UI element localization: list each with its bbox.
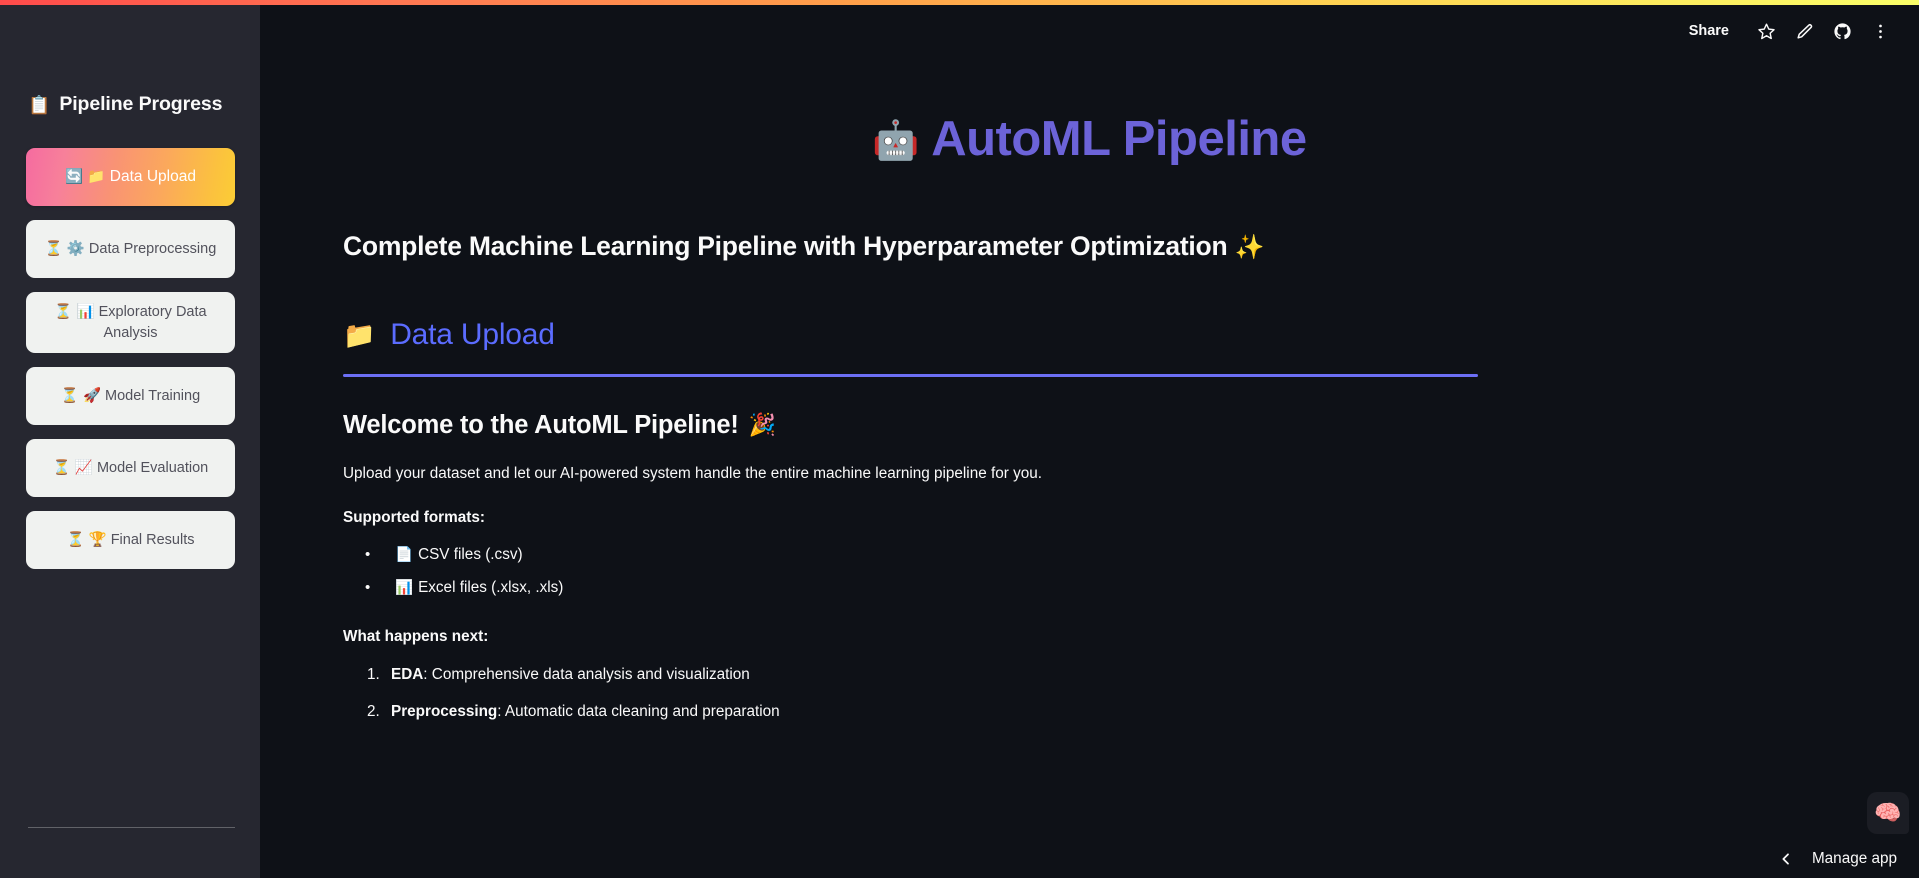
clipboard-icon: 📋 [28,96,50,114]
bar-chart-icon: 📊 [395,580,413,596]
top-progress-gradient-bar [0,0,1919,5]
intro-paragraph: Upload your dataset and let our AI-power… [343,462,1919,486]
list-item-description: : Automatic data cleaning and preparatio… [497,703,779,720]
hourglass-icon: ⏳ [61,388,79,404]
gear-icon: ⚙️ [67,241,85,257]
hourglass-icon: ⏳ [53,460,71,476]
sidebar-item-model-evaluation[interactable]: ⏳ 📈 Model Evaluation [26,439,235,497]
refresh-icon: 🔄 [65,169,83,185]
list-item-term: EDA [391,666,423,683]
share-button[interactable]: Share [1677,17,1741,45]
section-header-label: Data Upload [390,318,555,352]
list-item: 📊Excel files (.xlsx, .xls) [365,572,1919,605]
robot-icon: 🤖 [872,122,919,160]
sidebar-title-label: Pipeline Progress [59,93,222,116]
app-toolbar: Share [1677,5,1919,57]
sidebar: 📋 Pipeline Progress 🔄 📁 Data Upload ⏳ ⚙️… [0,5,260,878]
main-content: 🤖 AutoML Pipeline Complete Machine Learn… [260,5,1919,878]
section-header-data-upload: 📁 Data Upload [343,318,1919,352]
sidebar-item-label: Data Upload [110,168,196,185]
list-item-label: Excel files (.xlsx, .xls) [418,579,563,596]
list-item-label: CSV files (.csv) [418,546,523,563]
folder-icon: 📁 [87,169,105,185]
pencil-icon[interactable] [1785,12,1823,50]
sidebar-title: 📋 Pipeline Progress [28,93,222,116]
supported-formats-label: Supported formats: [343,509,1919,527]
pipeline-step-nav: 🔄 📁 Data Upload ⏳ ⚙️ Data Preprocessing … [26,148,235,569]
welcome-heading: Welcome to the AutoML Pipeline! 🎉 [343,411,1919,440]
folder-icon: 📁 [343,322,375,348]
list-item-term: Preprocessing [391,703,497,720]
sidebar-item-model-training[interactable]: ⏳ 🚀 Model Training [26,367,235,425]
bar-chart-icon: 📊 [77,304,95,320]
next-steps-list: EDA: Comprehensive data analysis and vis… [343,657,1919,731]
list-item: Preprocessing: Automatic data cleaning a… [367,694,1919,731]
line-chart-icon: 📈 [75,460,93,476]
sidebar-item-data-preprocessing[interactable]: ⏳ ⚙️ Data Preprocessing [26,220,235,278]
sidebar-item-final-results[interactable]: ⏳ 🏆 Final Results [26,511,235,569]
manage-app-button[interactable]: Manage app [1778,850,1897,868]
sidebar-item-label: Final Results [111,532,195,548]
section-divider [343,374,1478,377]
rocket-icon: 🚀 [83,388,101,404]
streamlit-app-root: 📋 Pipeline Progress 🔄 📁 Data Upload ⏳ ⚙️… [0,0,1919,878]
github-icon[interactable] [1823,12,1861,50]
sidebar-item-data-upload[interactable]: 🔄 📁 Data Upload [26,148,235,206]
document-icon: 📄 [395,547,413,563]
hourglass-icon: ⏳ [67,532,85,548]
page-title-text: AutoML Pipeline [931,113,1306,167]
block-container: 🤖 AutoML Pipeline Complete Machine Learn… [260,113,1919,730]
manage-app-label: Manage app [1812,850,1897,868]
supported-formats-list: 📄CSV files (.csv) 📊Excel files (.xlsx, .… [343,539,1919,605]
sidebar-item-label: Model Training [105,388,200,404]
page-subtitle-text: Complete Machine Learning Pipeline with … [343,231,1227,261]
sidebar-item-label: Model Evaluation [97,460,208,476]
list-item-description: : Comprehensive data analysis and visual… [423,666,750,683]
chevron-left-icon [1778,851,1794,867]
party-popper-icon: 🎉 [749,412,776,438]
overflow-menu-icon[interactable] [1861,12,1899,50]
sidebar-item-label: Exploratory Data Analysis [99,304,207,341]
hourglass-icon: ⏳ [54,304,72,320]
welcome-heading-text: Welcome to the AutoML Pipeline! [343,411,739,440]
sidebar-divider [28,827,235,828]
page-subtitle: Complete Machine Learning Pipeline with … [343,231,1919,262]
list-item: EDA: Comprehensive data analysis and vis… [367,657,1919,694]
sidebar-item-exploratory-data-analysis[interactable]: ⏳ 📊 Exploratory Data Analysis [26,292,235,353]
next-steps-label: What happens next: [343,628,1919,646]
trophy-icon: 🏆 [89,532,107,548]
avatar[interactable]: 🧠 [1867,792,1909,834]
page-title: 🤖 AutoML Pipeline [260,113,1919,167]
star-icon[interactable] [1747,12,1785,50]
hourglass-icon: ⏳ [45,241,63,257]
sidebar-item-label: Data Preprocessing [89,241,216,257]
list-item: 📄CSV files (.csv) [365,539,1919,572]
brain-icon: 🧠 [1874,802,1901,824]
sparkles-icon: ✨ [1235,234,1265,261]
